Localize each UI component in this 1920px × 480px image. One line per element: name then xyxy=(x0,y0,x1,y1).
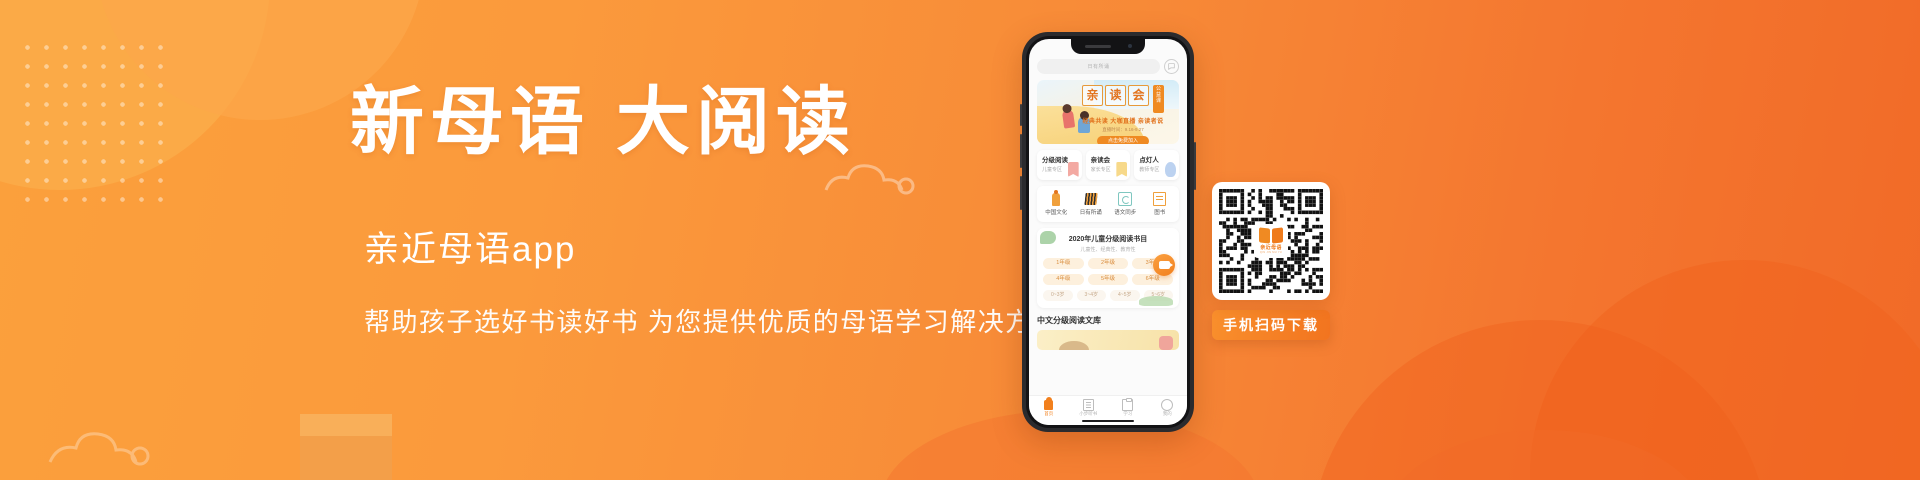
hero-text-block: 亲 读 会 公益课 经典共读 大咖直播 亲读者说 直播时间：9.16-9.27 … xyxy=(1071,85,1175,144)
quick-entry-label: 中国文化 xyxy=(1039,208,1074,216)
hero-banner[interactable]: 亲 读 会 公益课 经典共读 大咖直播 亲读者说 直播时间：9.16-9.27 … xyxy=(1037,80,1179,144)
hero-char: 亲 xyxy=(1082,85,1103,106)
search-input[interactable]: 日有所诵 xyxy=(1037,59,1160,74)
tab-home[interactable]: 首页 xyxy=(1029,399,1069,417)
book-section-subtitle: 儿童性、经典性、教育性 xyxy=(1043,246,1173,253)
tile-graded-reading[interactable]: 分级阅读 儿童专区 xyxy=(1037,150,1082,180)
grade-chip-row-2: 4年级 5年级 6年级 xyxy=(1043,274,1173,285)
recite-icon xyxy=(1074,192,1109,206)
download-block: 亲近母语 QIN JIN MU YU 手机扫码下载 xyxy=(1212,182,1330,340)
phone-bezel: 日有所诵 亲 读 xyxy=(1026,36,1190,428)
headline-part-1: 新母语 xyxy=(350,79,590,165)
video-camera-icon xyxy=(1159,261,1170,269)
age-chip[interactable]: 4~5岁 xyxy=(1110,290,1140,301)
phone-volume-down-button xyxy=(1020,176,1022,210)
scan-to-download-button[interactable]: 手机扫码下载 xyxy=(1212,310,1330,340)
hero-join-button[interactable]: 点击免费加入 xyxy=(1097,136,1149,144)
message-icon[interactable] xyxy=(1164,59,1179,74)
quick-entry-recite[interactable]: 日有所诵 xyxy=(1074,192,1109,216)
app-name-subtitle: 亲近母语app xyxy=(364,221,1010,272)
decorative-circle-bottom-right-2 xyxy=(1310,320,1770,480)
age-chip[interactable]: 3~4岁 xyxy=(1077,290,1107,301)
cloud-ornament-left xyxy=(40,412,170,472)
quick-entry-label: 图书 xyxy=(1143,208,1178,216)
culture-icon xyxy=(1039,192,1074,206)
sync-icon xyxy=(1108,192,1143,206)
banner-copy: 新母语大阅读 亲近母语app 帮助孩子选好书读好书 为您提供优质的母语学习解决方… xyxy=(350,84,1010,339)
quick-entry-label: 语文同步 xyxy=(1108,208,1143,216)
decorative-cube xyxy=(300,430,392,480)
qr-logo-subtitle: QIN JIN MU YU xyxy=(1260,251,1282,254)
book-section-title: 2020年儿童分级阅读书目 xyxy=(1043,234,1173,244)
hero-char: 会 xyxy=(1128,85,1149,106)
headline-part-2: 大阅读 xyxy=(616,79,856,165)
quick-entry-books[interactable]: 图书 xyxy=(1143,192,1178,216)
tab-profile[interactable]: 我的 xyxy=(1148,399,1188,417)
grade-chip[interactable]: 4年级 xyxy=(1043,274,1084,285)
hero-date: 直播时间：9.16-9.27 xyxy=(1071,127,1175,133)
qr-logo-title: 亲近母语 xyxy=(1260,244,1282,251)
tab-label: 我的 xyxy=(1148,411,1188,417)
phone-power-button xyxy=(1194,142,1196,190)
qr-code: 亲近母语 QIN JIN MU YU xyxy=(1219,189,1323,293)
front-camera xyxy=(1128,44,1132,48)
leaf-ornament xyxy=(1040,231,1056,244)
library-card[interactable] xyxy=(1037,330,1179,350)
tile-teacher-zone[interactable]: 点灯人 教师专区 xyxy=(1134,150,1179,180)
video-play-button[interactable] xyxy=(1153,254,1175,276)
hero-char: 读 xyxy=(1105,85,1126,106)
page-title: 新母语大阅读 xyxy=(350,84,1010,161)
age-chip[interactable]: 0~3岁 xyxy=(1043,290,1073,301)
decorative-circle-bottom-right xyxy=(1530,260,1920,480)
phone-volume-up-button xyxy=(1020,134,1022,168)
person-icon xyxy=(1165,162,1176,177)
grade-chip[interactable]: 5年级 xyxy=(1088,274,1129,285)
quick-entry-culture[interactable]: 中国文化 xyxy=(1039,192,1074,216)
library-section-title: 中文分级阅读文库 xyxy=(1037,315,1179,326)
tab-label: 首页 xyxy=(1029,411,1069,417)
promo-banner: 新母语大阅读 亲近母语app 帮助孩子选好书读好书 为您提供优质的母语学习解决方… xyxy=(0,0,1920,480)
phone-notch xyxy=(1071,39,1145,54)
profile-icon xyxy=(1148,399,1188,410)
hero-side-tag: 公益课 xyxy=(1153,85,1164,113)
tab-label: 小步听书 xyxy=(1069,411,1109,417)
book-icon xyxy=(1143,192,1178,206)
study-icon xyxy=(1108,399,1148,410)
phone-mockup: 日有所诵 亲 读 xyxy=(1022,32,1194,432)
tab-listen[interactable]: 小步听书 xyxy=(1069,399,1109,417)
listen-icon xyxy=(1069,399,1109,410)
phone-screen: 日有所诵 亲 读 xyxy=(1029,39,1187,425)
app-content: 日有所诵 亲 读 xyxy=(1029,39,1187,350)
quick-entry-label: 日有所诵 xyxy=(1074,208,1109,216)
app-search-row: 日有所诵 xyxy=(1037,59,1179,74)
quick-entry-sync[interactable]: 语文同步 xyxy=(1108,192,1143,216)
decorative-arc-bottom-2 xyxy=(1380,430,1710,480)
category-tiles: 分级阅读 儿童专区 亲读会 家长专区 点灯人 教师专区 xyxy=(1037,150,1179,180)
grade-chip[interactable]: 6年级 xyxy=(1132,274,1173,285)
bookmark-icon xyxy=(1068,162,1079,177)
bookmark-icon xyxy=(1116,162,1127,177)
earpiece-speaker xyxy=(1085,45,1111,48)
decorative-circle-top-left xyxy=(0,0,270,190)
grade-chip[interactable]: 1年级 xyxy=(1043,258,1084,269)
home-indicator xyxy=(1082,420,1134,423)
book-list-section: 2020年儿童分级阅读书目 儿童性、经典性、教育性 1年级 2年级 3年级 4年… xyxy=(1037,228,1179,308)
tile-parent-reading-club[interactable]: 亲读会 家长专区 xyxy=(1086,150,1131,180)
hero-subtitle: 经典共读 大咖直播 亲读者说 xyxy=(1071,116,1175,125)
open-book-icon xyxy=(1259,228,1283,243)
grade-chip[interactable]: 2年级 xyxy=(1088,258,1129,269)
quick-icon-row: 中国文化 日有所诵 语文同步 图书 xyxy=(1037,186,1179,222)
banner-tagline: 帮助孩子选好书读好书 为您提供优质的母语学习解决方案 xyxy=(364,302,1010,339)
tab-label: 学习 xyxy=(1108,411,1148,417)
decorative-dot-grid xyxy=(18,38,168,208)
leaf-ornament-2 xyxy=(1139,296,1173,306)
phone-mute-switch xyxy=(1020,104,1022,126)
qr-center-logo: 亲近母语 QIN JIN MU YU xyxy=(1254,224,1288,258)
hero-title: 亲 读 会 公益课 xyxy=(1071,85,1175,113)
library-section: 中文分级阅读文库 xyxy=(1037,315,1179,350)
tab-study[interactable]: 学习 xyxy=(1108,399,1148,417)
home-icon xyxy=(1029,399,1069,410)
qr-code-card: 亲近母语 QIN JIN MU YU xyxy=(1212,182,1330,300)
